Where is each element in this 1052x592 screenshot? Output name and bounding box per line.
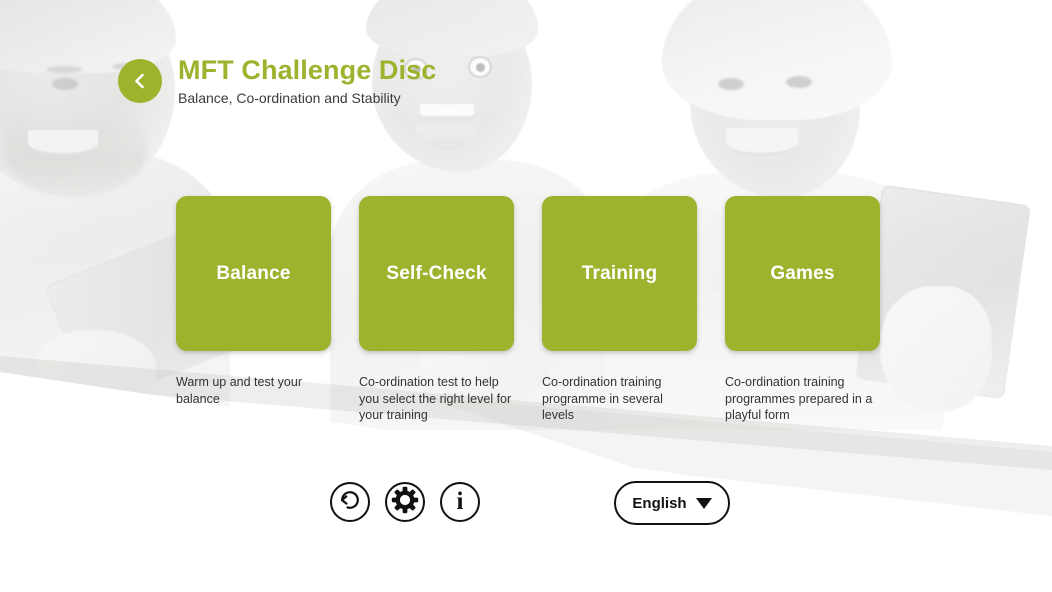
app-header: MFT Challenge Disc Balance, Co-ordinatio… <box>118 54 436 107</box>
info-button[interactable]: i <box>440 482 480 522</box>
language-selector[interactable]: English <box>614 481 730 525</box>
app-root: MFT Challenge Disc Balance, Co-ordinatio… <box>0 0 1052 592</box>
gear-icon <box>391 486 419 519</box>
tile-column-training: Training Co-ordination training programm… <box>542 196 697 424</box>
page-title: MFT Challenge Disc <box>178 54 436 86</box>
chevron-left-icon <box>130 71 150 91</box>
tile-column-balance: Balance Warm up and test your balance <box>176 196 331 424</box>
tile-training-label: Training <box>582 263 658 285</box>
settings-button[interactable] <box>385 482 425 522</box>
tile-column-games: Games Co-ordination training programmes … <box>725 196 880 424</box>
tile-balance-description: Warm up and test your balance <box>176 374 331 407</box>
reset-icon <box>337 487 363 518</box>
tile-games-description: Co-ordination training programmes prepar… <box>725 374 880 424</box>
tile-games[interactable]: Games <box>725 196 880 351</box>
language-selected-label: English <box>632 495 686 512</box>
caret-down-icon <box>696 498 712 509</box>
menu-tiles: Balance Warm up and test your balance Se… <box>176 196 880 424</box>
title-group: MFT Challenge Disc Balance, Co-ordinatio… <box>178 54 436 107</box>
info-icon: i <box>457 489 464 514</box>
reset-button[interactable] <box>330 482 370 522</box>
tile-training-description: Co-ordination training programme in seve… <box>542 374 697 424</box>
tile-balance-label: Balance <box>216 263 290 285</box>
tile-games-label: Games <box>770 263 834 285</box>
tile-column-self-check: Self-Check Co-ordination test to help yo… <box>359 196 514 424</box>
back-button[interactable] <box>118 59 162 103</box>
tile-self-check[interactable]: Self-Check <box>359 196 514 351</box>
tile-training[interactable]: Training <box>542 196 697 351</box>
tile-self-check-description: Co-ordination test to help you select th… <box>359 374 514 424</box>
tile-balance[interactable]: Balance <box>176 196 331 351</box>
tile-self-check-label: Self-Check <box>386 263 486 285</box>
page-subtitle: Balance, Co-ordination and Stability <box>178 89 436 107</box>
bottom-icon-bar: i <box>330 482 480 522</box>
